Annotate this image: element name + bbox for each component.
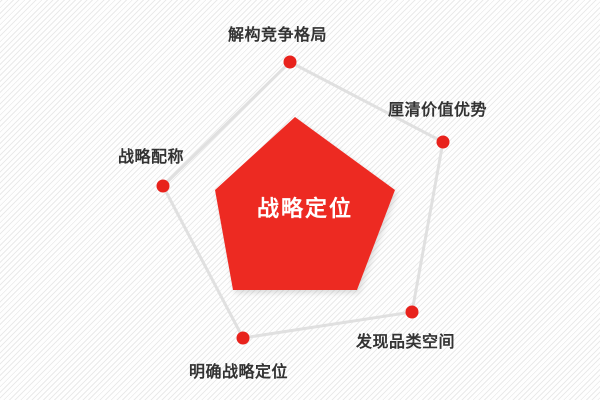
vertex-dot-bottom-left[interactable] — [237, 332, 250, 345]
node-label-top: 解构竞争格局 — [228, 26, 327, 44]
node-label-bottom-left: 明确战略定位 — [189, 363, 288, 381]
node-label-right-bottom: 发现品类空间 — [356, 333, 455, 351]
vertex-dot-top[interactable] — [284, 56, 297, 69]
node-label-left: 战略配称 — [118, 148, 184, 166]
vertex-dot-left[interactable] — [157, 180, 170, 193]
vertex-dot-right-bottom[interactable] — [406, 306, 419, 319]
diagram-canvas: 解构竞争格局 厘清价值优势 发现品类空间 明确战略定位 战略配称 战略定位 — [0, 0, 600, 400]
node-label-right-top: 厘清价值优势 — [388, 101, 487, 119]
center-pentagon-label: 战略定位 — [232, 191, 378, 223]
vertex-dot-right-top[interactable] — [437, 136, 450, 149]
